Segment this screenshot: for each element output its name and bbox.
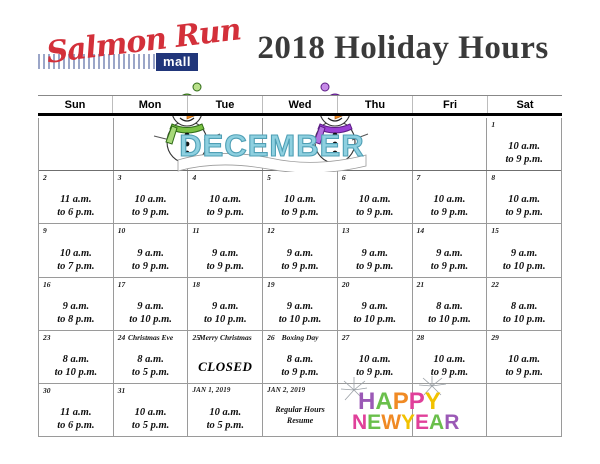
store-hours: 9 a.m.to 10 p.m. [263,300,337,326]
weekday-header-row: Sun Mon Tue Wed Thu Fri Sat [38,95,562,116]
calendar-week-row: 3011 a.m.to 6 p.m.3110 a.m.to 5 p.m.JAN … [39,384,561,436]
calendar-empty-cell [114,118,189,170]
calendar-day-cell[interactable]: 610 a.m.to 9 p.m. [338,171,413,223]
opening-time: 9 a.m. [338,300,412,313]
calendar-day-cell[interactable]: 2710 a.m.to 9 p.m. [338,331,413,383]
day-number: 3 [118,173,184,182]
calendar-day-cell[interactable]: 910 a.m.to 7 p.m. [39,224,114,276]
calendar-day-cell[interactable]: 159 a.m.to 10 p.m. [487,224,561,276]
day-number: 6 [342,173,408,182]
calendar-week-row: 910 a.m.to 7 p.m.109 a.m.to 9 p.m.119 a.… [39,224,561,277]
page-header: Salmon Run mall 2018 Holiday Hours [0,0,600,92]
calendar-day-cell[interactable]: 209 a.m.to 10 p.m. [338,278,413,330]
store-hours: 10 a.m.to 9 p.m. [487,353,561,379]
calendar-week-row: 211 a.m.to 6 p.m.310 a.m.to 9 p.m.410 a.… [39,171,561,224]
day-number: 8 [491,173,557,182]
calendar-day-cell[interactable]: 3011 a.m.to 6 p.m. [39,384,114,436]
calendar-day-cell[interactable]: 410 a.m.to 9 p.m. [188,171,263,223]
calendar-week-row: 110 a.m.to 9 p.m. [39,118,561,171]
holiday-label: Merry Christmas [188,333,262,343]
calendar-day-cell[interactable]: 211 a.m.to 6 p.m. [39,171,114,223]
opening-time: 9 a.m. [338,247,412,260]
closing-time: to 9 p.m. [413,366,487,379]
calendar-empty-cell [39,118,114,170]
store-hours: 8 a.m.to 10 p.m. [487,300,561,326]
opening-time: 10 a.m. [487,140,561,153]
calendar-day-cell[interactable]: 2910 a.m.to 9 p.m. [487,331,561,383]
opening-time: 10 a.m. [487,353,561,366]
closing-time: to 5 p.m. [188,419,262,432]
calendar-day-cell[interactable]: 510 a.m.to 9 p.m. [263,171,338,223]
opening-time: 11 a.m. [39,406,113,419]
opening-time: 9 a.m. [188,300,262,313]
store-hours: 10 a.m.to 9 p.m. [188,193,262,219]
closing-time: to 10 p.m. [338,313,412,326]
closing-time: to 9 p.m. [338,206,412,219]
closing-time: to 9 p.m. [188,260,262,273]
holiday-label: Boxing Day [263,333,337,343]
closing-time: to 9 p.m. [487,153,561,166]
day-number: 5 [267,173,333,182]
day-number: 14 [417,226,483,235]
weekday-sun: Sun [38,96,113,113]
store-hours: 10 a.m.to 9 p.m. [413,193,487,219]
closing-time: to 6 p.m. [39,206,113,219]
day-number: 28 [417,333,483,342]
calendar-day-cell[interactable]: 3110 a.m.to 5 p.m. [114,384,189,436]
calendar-empty-cell [487,384,561,436]
closing-time: to 9 p.m. [338,260,412,273]
day-number: 27 [342,333,408,342]
day-number: 20 [342,280,408,289]
weekday-sat: Sat [488,96,562,113]
weekday-mon: Mon [113,96,188,113]
store-hours: 11 a.m.to 6 p.m. [39,193,113,219]
salmon-run-mall-logo: Salmon Run mall [38,22,218,80]
store-hours: 9 a.m.to 9 p.m. [413,247,487,273]
holiday-label: Christmas Eve [114,333,188,343]
opening-time: 11 a.m. [39,193,113,206]
day-number: 2 [43,173,109,182]
day-number: JAN 1, 2019 [192,386,258,395]
closing-time: to 10 p.m. [114,313,188,326]
calendar-day-cell[interactable]: 2810 a.m.to 9 p.m. [413,331,488,383]
store-hours: 10 a.m.to 9 p.m. [263,193,337,219]
day-number: 29 [491,333,557,342]
opening-time: 10 a.m. [39,247,113,260]
opening-time: 10 a.m. [188,406,262,419]
store-hours: 9 a.m.to 10 p.m. [338,300,412,326]
opening-time: 8 a.m. [39,353,113,366]
closing-time: to 10 p.m. [487,313,561,326]
store-hours: 9 a.m.to 10 p.m. [114,300,188,326]
closing-time: to 10 p.m. [413,313,487,326]
closing-time: to 10 p.m. [263,313,337,326]
opening-time: 10 a.m. [413,193,487,206]
store-hours: 9 a.m.to 9 p.m. [338,247,412,273]
calendar-day-cell[interactable]: 149 a.m.to 9 p.m. [413,224,488,276]
closing-time: to 9 p.m. [413,206,487,219]
store-hours: 9 a.m.to 9 p.m. [188,247,262,273]
opening-time: 9 a.m. [413,247,487,260]
store-hours: 9 a.m.to 10 p.m. [188,300,262,326]
closing-time: to 5 p.m. [114,419,188,432]
calendar-day-cell[interactable]: 218 a.m.to 10 p.m. [413,278,488,330]
closing-time: to 9 p.m. [114,260,188,273]
store-hours: 10 a.m.to 5 p.m. [114,406,188,432]
weekday-tue: Tue [188,96,263,113]
store-hours: 8 a.m.to 9 p.m. [263,353,337,379]
closed-status: CLOSED [188,359,262,375]
calendar-day-cell[interactable]: 110 a.m.to 9 p.m. [487,118,561,170]
store-hours: 8 a.m.to 10 p.m. [413,300,487,326]
calendar-empty-cell [413,384,488,436]
opening-time: 9 a.m. [39,300,113,313]
opening-time: 9 a.m. [114,300,188,313]
opening-time: 8 a.m. [413,300,487,313]
calendar-day-cell[interactable]: 169 a.m.to 8 p.m. [39,278,114,330]
closing-time: to 9 p.m. [263,366,337,379]
calendar-day-cell[interactable]: JAN 2, 2019Regular Hours Resume [263,384,338,436]
calendar-day-cell[interactable]: 139 a.m.to 9 p.m. [338,224,413,276]
closing-time: to 9 p.m. [188,206,262,219]
day-number: 7 [417,173,483,182]
day-number: 19 [267,280,333,289]
opening-time: 10 a.m. [188,193,262,206]
closing-time: to 9 p.m. [487,366,561,379]
store-hours: 10 a.m.to 9 p.m. [487,140,561,166]
store-hours: 10 a.m.to 9 p.m. [487,193,561,219]
calendar-day-cell[interactable]: 119 a.m.to 9 p.m. [188,224,263,276]
calendar-day-cell[interactable]: 238 a.m.to 10 p.m. [39,331,114,383]
day-number: 4 [192,173,258,182]
day-number: 16 [43,280,109,289]
opening-time: 10 a.m. [114,193,188,206]
store-hours: 10 a.m.to 9 p.m. [338,353,412,379]
closing-time: to 8 p.m. [39,313,113,326]
opening-time: 10 a.m. [338,353,412,366]
calendar-day-cell[interactable]: 24Christmas Eve8 a.m.to 5 p.m. [114,331,189,383]
day-number: 23 [43,333,109,342]
calendar-empty-cell [413,118,488,170]
day-number: 31 [118,386,184,395]
opening-time: 10 a.m. [413,353,487,366]
store-hours: 10 a.m.to 9 p.m. [114,193,188,219]
day-number: 11 [192,226,258,235]
day-number: 10 [118,226,184,235]
day-number: JAN 2, 2019 [267,386,333,395]
closing-time: to 9 p.m. [487,206,561,219]
calendar-day-cell[interactable]: 710 a.m.to 9 p.m. [413,171,488,223]
opening-time: 10 a.m. [338,193,412,206]
closing-time: to 10 p.m. [188,313,262,326]
calendar-day-cell[interactable]: 25Merry ChristmasCLOSED [188,331,263,383]
page-title: 2018 Holiday Hours [243,30,563,67]
day-number: 1 [491,120,557,129]
calendar-day-cell[interactable]: 179 a.m.to 10 p.m. [114,278,189,330]
closing-time: to 9 p.m. [338,366,412,379]
closing-time: to 6 p.m. [39,419,113,432]
store-hours: 11 a.m.to 6 p.m. [39,406,113,432]
store-hours: 9 a.m.to 9 p.m. [114,247,188,273]
opening-time: 10 a.m. [487,193,561,206]
resume-note: Regular Hours Resume [263,404,337,426]
calendar-day-cell[interactable]: 109 a.m.to 9 p.m. [114,224,189,276]
store-hours: 9 a.m.to 8 p.m. [39,300,113,326]
closing-time: to 7 p.m. [39,260,113,273]
day-number: 12 [267,226,333,235]
closing-time: to 9 p.m. [263,260,337,273]
day-number: 13 [342,226,408,235]
opening-time: 9 a.m. [263,300,337,313]
closing-time: to 10 p.m. [39,366,113,379]
store-hours: 10 a.m.to 9 p.m. [338,193,412,219]
day-number: 21 [417,280,483,289]
closing-time: to 9 p.m. [263,206,337,219]
store-hours: 9 a.m.to 9 p.m. [263,247,337,273]
day-number: 9 [43,226,109,235]
closing-time: to 10 p.m. [487,260,561,273]
calendar-week-row: 238 a.m.to 10 p.m.24Christmas Eve8 a.m.t… [39,331,561,384]
calendar-empty-cell [188,118,263,170]
opening-time: 8 a.m. [263,353,337,366]
closing-time: to 9 p.m. [114,206,188,219]
store-hours: 9 a.m.to 10 p.m. [487,247,561,273]
day-number: 30 [43,386,109,395]
opening-time: 9 a.m. [487,247,561,260]
calendar-day-cell[interactable]: JAN 1, 201910 a.m.to 5 p.m. [188,384,263,436]
logo-mall-badge: mall [156,53,198,71]
opening-time: 8 a.m. [487,300,561,313]
calendar-day-cell[interactable]: 810 a.m.to 9 p.m. [487,171,561,223]
opening-time: 9 a.m. [188,247,262,260]
calendar-empty-cell [338,118,413,170]
store-hours: 10 a.m.to 5 p.m. [188,406,262,432]
calendar-day-cell[interactable]: 310 a.m.to 9 p.m. [114,171,189,223]
weekday-wed: Wed [263,96,338,113]
calendar-empty-cell [338,384,413,436]
opening-time: 10 a.m. [114,406,188,419]
calendar-grid: 110 a.m.to 9 p.m.211 a.m.to 6 p.m.310 a.… [38,118,562,437]
store-hours: 8 a.m.to 10 p.m. [39,353,113,379]
opening-time: 8 a.m. [114,353,188,366]
opening-time: 9 a.m. [263,247,337,260]
calendar-day-cell[interactable]: 228 a.m.to 10 p.m. [487,278,561,330]
day-number: 22 [491,280,557,289]
calendar-day-cell[interactable]: 199 a.m.to 10 p.m. [263,278,338,330]
opening-time: 9 a.m. [114,247,188,260]
day-number: 17 [118,280,184,289]
day-number: 15 [491,226,557,235]
calendar-week-row: 169 a.m.to 8 p.m.179 a.m.to 10 p.m.189 a… [39,278,561,331]
weekday-thu: Thu [338,96,413,113]
store-hours: 8 a.m.to 5 p.m. [114,353,188,379]
day-number: 18 [192,280,258,289]
store-hours: 10 a.m.to 7 p.m. [39,247,113,273]
calendar-empty-cell [263,118,338,170]
calendar-day-cell[interactable]: 26Boxing Day8 a.m.to 9 p.m. [263,331,338,383]
calendar-day-cell[interactable]: 129 a.m.to 9 p.m. [263,224,338,276]
opening-time: 10 a.m. [263,193,337,206]
weekday-fri: Fri [413,96,488,113]
closing-time: to 5 p.m. [114,366,188,379]
store-hours: 10 a.m.to 9 p.m. [413,353,487,379]
calendar-day-cell[interactable]: 189 a.m.to 10 p.m. [188,278,263,330]
closing-time: to 9 p.m. [413,260,487,273]
